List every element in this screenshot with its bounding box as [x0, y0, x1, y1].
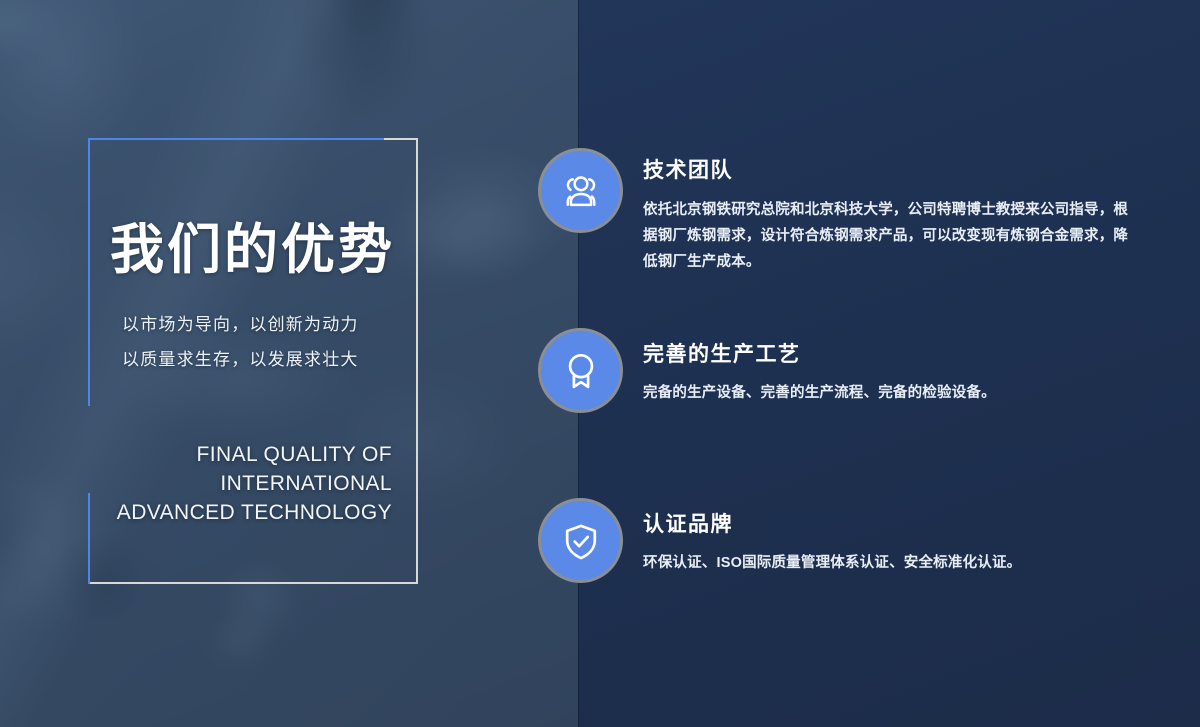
award-medal-icon [538, 328, 623, 413]
feature-list: 技术团队 依托北京钢铁研究总院和北京科技大学，公司特聘博士教授来公司指导，根据钢… [538, 0, 1200, 727]
tagline-group: 以市场为导向，以创新为动力 以质量求生存，以发展求壮大 [122, 307, 359, 377]
feature-title: 认证品牌 [643, 508, 1133, 538]
feature-description: 完备的生产设备、完善的生产流程、完备的检验设备。 [643, 380, 1133, 406]
left-hero-panel: 我们的优势 以市场为导向，以创新为动力 以质量求生存，以发展求壮大 FINAL … [0, 0, 578, 727]
feature-title: 完善的生产工艺 [643, 338, 1133, 368]
feature-item-production-process[interactable]: 完善的生产工艺 完备的生产设备、完善的生产流程、完备的检验设备。 [538, 328, 1138, 413]
feature-description: 环保认证、ISO国际质量管理体系认证、安全标准化认证。 [643, 550, 1133, 576]
shield-check-icon [538, 498, 623, 583]
feature-item-technical-team[interactable]: 技术团队 依托北京钢铁研究总院和北京科技大学，公司特聘博士教授来公司指导，根据钢… [538, 148, 1138, 275]
page-title: 我们的优势 [110, 223, 395, 277]
english-subtitle-line-2: ADVANCED TECHNOLOGY [28, 498, 392, 527]
tagline-line-2: 以质量求生存，以发展求壮大 [122, 342, 359, 377]
feature-body: 技术团队 依托北京钢铁研究总院和北京科技大学，公司特聘博士教授来公司指导，根据钢… [643, 148, 1133, 275]
users-group-icon [538, 148, 623, 233]
english-subtitle-line-1: FINAL QUALITY OF INTERNATIONAL [28, 440, 392, 498]
feature-body: 完善的生产工艺 完备的生产设备、完善的生产流程、完备的检验设备。 [643, 328, 1133, 406]
advantages-banner: 我们的优势 以市场为导向，以创新为动力 以质量求生存，以发展求壮大 FINAL … [0, 0, 1200, 727]
english-subtitle: FINAL QUALITY OF INTERNATIONAL ADVANCED … [28, 440, 392, 527]
feature-description: 依托北京钢铁研究总院和北京科技大学，公司特聘博士教授来公司指导，根据钢厂炼钢需求… [643, 197, 1133, 275]
feature-body: 认证品牌 环保认证、ISO国际质量管理体系认证、安全标准化认证。 [643, 498, 1133, 576]
feature-item-certified-brand[interactable]: 认证品牌 环保认证、ISO国际质量管理体系认证、安全标准化认证。 [538, 498, 1138, 583]
feature-title: 技术团队 [643, 154, 1133, 184]
left-text-block: 我们的优势 以市场为导向，以创新为动力 以质量求生存，以发展求壮大 FINAL … [0, 0, 578, 727]
tagline-line-1: 以市场为导向，以创新为动力 [122, 307, 359, 342]
